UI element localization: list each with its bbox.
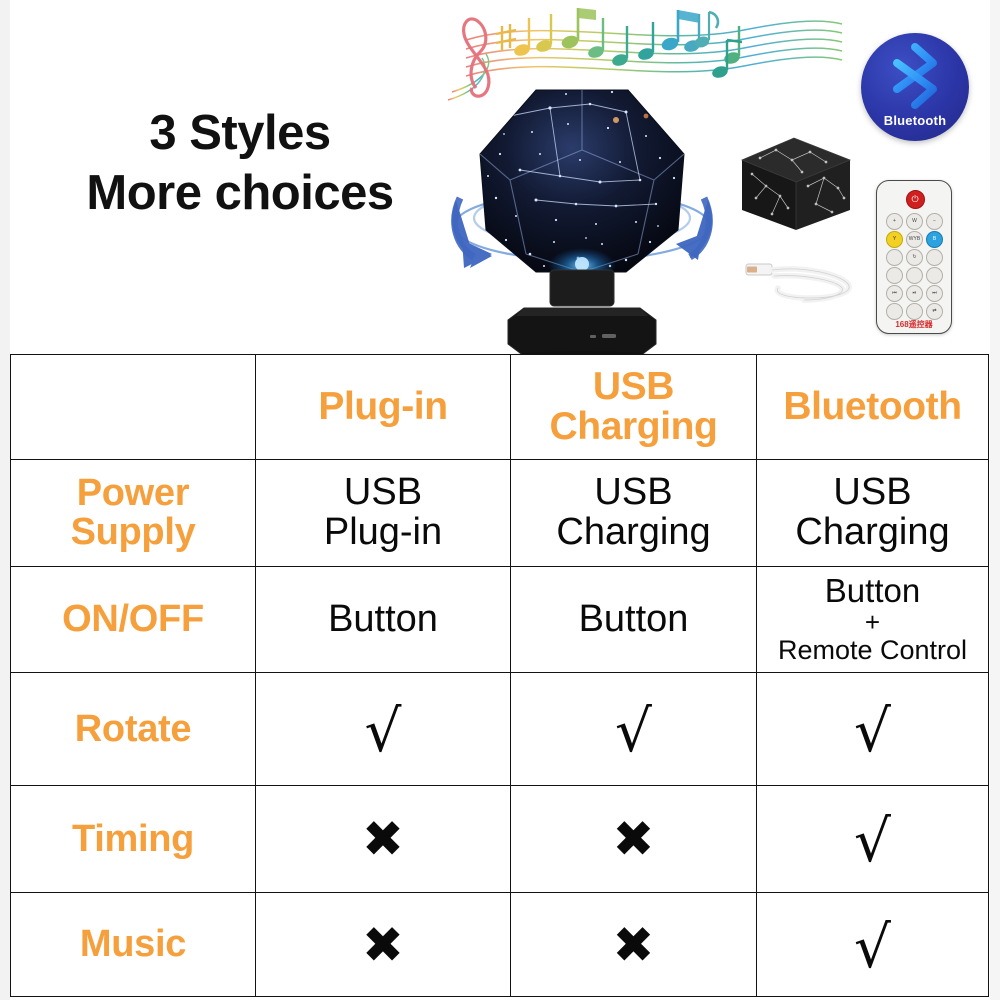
cross-icon: ✖ (362, 814, 404, 864)
row-label-power-supply-line-2: Supply (71, 511, 196, 553)
cross-icon: ✖ (613, 814, 655, 864)
check-icon: √ (854, 812, 891, 870)
cell-on-off-bluetooth: Button + Remote Control (757, 567, 989, 673)
cell-music-plug-in: ✖ (256, 893, 511, 997)
remote-button-plus[interactable]: + (886, 213, 903, 230)
check-icon: √ (615, 702, 652, 760)
remote-button-play[interactable]: ⏯ (906, 285, 923, 302)
column-header-plug-in-label: Plug-in (260, 387, 506, 427)
remote-button-timer-60[interactable] (926, 267, 943, 284)
cell-music-bluetooth: √ (757, 893, 989, 997)
row-label-music-text: Music (15, 925, 251, 964)
remote-button-y[interactable]: Y (886, 231, 903, 248)
cell-timing-bluetooth: √ (757, 786, 989, 893)
usb-charging-cable (744, 250, 864, 308)
cell-on-off-usb-charging: Button (511, 567, 757, 673)
row-label-rotate: Rotate (11, 673, 256, 786)
bluetooth-icon (861, 39, 969, 113)
cell-power-supply-plug-in: USB Plug-in (256, 460, 511, 567)
remote-button-timer-30[interactable] (886, 267, 903, 284)
table-row-music: Music ✖ ✖ √ (11, 893, 989, 997)
column-header-usb-charging-line-1: USB (593, 365, 674, 408)
cell-rotate-bluetooth: √ (757, 673, 989, 786)
remote-button-repeat[interactable]: ⇄ (926, 303, 943, 320)
remote-button-rotate[interactable]: ↻ (906, 249, 923, 266)
remote-button-mute[interactable] (886, 303, 903, 320)
bluetooth-badge: Bluetooth (861, 33, 969, 141)
row-label-timing-text: Timing (15, 820, 251, 859)
table-row-power-supply: Power Supply USB Plug-in USB Charging (11, 460, 989, 567)
bluetooth-badge-label: Bluetooth (861, 113, 969, 128)
page-title: 3 Styles More choices (40, 104, 440, 224)
row-label-on-off: ON/OFF (11, 567, 256, 673)
remote-button-speed-up[interactable] (926, 249, 943, 266)
row-label-music: Music (11, 893, 256, 997)
cell-music-usb-charging: ✖ (511, 893, 757, 997)
row-label-on-off-text: ON/OFF (15, 600, 251, 639)
cell-timing-plug-in: ✖ (256, 786, 511, 893)
cell-power-supply-bluetooth: USB Charging (757, 460, 989, 567)
comparison-table: Plug-in USB Charging Bluetooth Power Sup (10, 354, 989, 997)
table-corner-cell (11, 355, 256, 460)
column-header-usb-charging: USB Charging (511, 355, 757, 460)
cell-timing-usb-charging: ✖ (511, 786, 757, 893)
cell-power-supply-usb-charging-line-1: USB (594, 471, 672, 513)
constellation-gift-box (736, 130, 856, 240)
cell-on-off-plug-in: Button (256, 567, 511, 673)
cell-power-supply-plug-in-line-2: Plug-in (324, 511, 442, 553)
row-label-rotate-text: Rotate (15, 710, 251, 749)
column-header-bluetooth-label: Bluetooth (761, 387, 984, 427)
row-label-power-supply: Power Supply (11, 460, 256, 567)
infographic-page: 3 Styles More choices (0, 0, 1000, 1000)
row-label-timing: Timing (11, 786, 256, 893)
remote-button-b[interactable]: B (926, 231, 943, 248)
cell-rotate-usb-charging: √ (511, 673, 757, 786)
column-header-bluetooth: Bluetooth (757, 355, 989, 460)
cell-on-off-bluetooth-line-1: Button (825, 572, 920, 609)
table-header-row: Plug-in USB Charging Bluetooth (11, 355, 989, 460)
headline-line-1: 3 Styles (40, 104, 440, 164)
remote-button-speed-down[interactable] (886, 249, 903, 266)
remote-button-volume-down[interactable] (906, 303, 923, 320)
remote-button-w[interactable]: W (906, 213, 923, 230)
column-header-plug-in: Plug-in (256, 355, 511, 460)
cell-power-supply-bluetooth-line-1: USB (833, 471, 911, 513)
check-icon: √ (854, 702, 891, 760)
remote-button-volume-up[interactable] (906, 267, 923, 284)
remote-power-button[interactable]: ⏻ (906, 190, 925, 209)
remote-button-next[interactable]: ⏭ (926, 285, 943, 302)
remote-button-minus[interactable]: − (926, 213, 943, 230)
cross-icon: ✖ (613, 920, 655, 970)
column-header-usb-charging-line-2: Charging (550, 405, 718, 448)
cell-on-off-bluetooth-line-2: Remote Control (778, 635, 967, 665)
cell-on-off-bluetooth-plus: + (761, 609, 984, 636)
cell-power-supply-plug-in-line-1: USB (344, 471, 422, 513)
hero-section: 3 Styles More choices (0, 0, 1000, 355)
row-label-power-supply-line-1: Power (77, 472, 190, 514)
star-projector-lamp (440, 58, 724, 358)
check-icon: √ (365, 702, 402, 760)
cell-power-supply-bluetooth-line-2: Charging (795, 511, 949, 553)
cross-icon: ✖ (362, 920, 404, 970)
cell-power-supply-usb-charging-line-2: Charging (556, 511, 710, 553)
cell-rotate-plug-in: √ (256, 673, 511, 786)
remote-model-label: 168遥控器 (877, 319, 951, 330)
headline-line-2: More choices (40, 164, 440, 224)
table-row-on-off: ON/OFF Button Button Button + Remote Con… (11, 567, 989, 673)
cell-on-off-plug-in-text: Button (260, 600, 506, 640)
table-row-timing: Timing ✖ ✖ √ (11, 786, 989, 893)
cell-power-supply-usb-charging: USB Charging (511, 460, 757, 567)
table-row-rotate: Rotate √ √ √ (11, 673, 989, 786)
remote-button-previous[interactable]: ⏮ (886, 285, 903, 302)
check-icon: √ (854, 918, 891, 976)
remote-control: ⏻ + W − Y WYB B ↻ ⏮ ⏯ ⏭ ⇄ 168遥控器 (876, 180, 952, 334)
cell-on-off-usb-charging-text: Button (515, 600, 752, 640)
remote-button-wyb[interactable]: WYB (906, 231, 923, 248)
